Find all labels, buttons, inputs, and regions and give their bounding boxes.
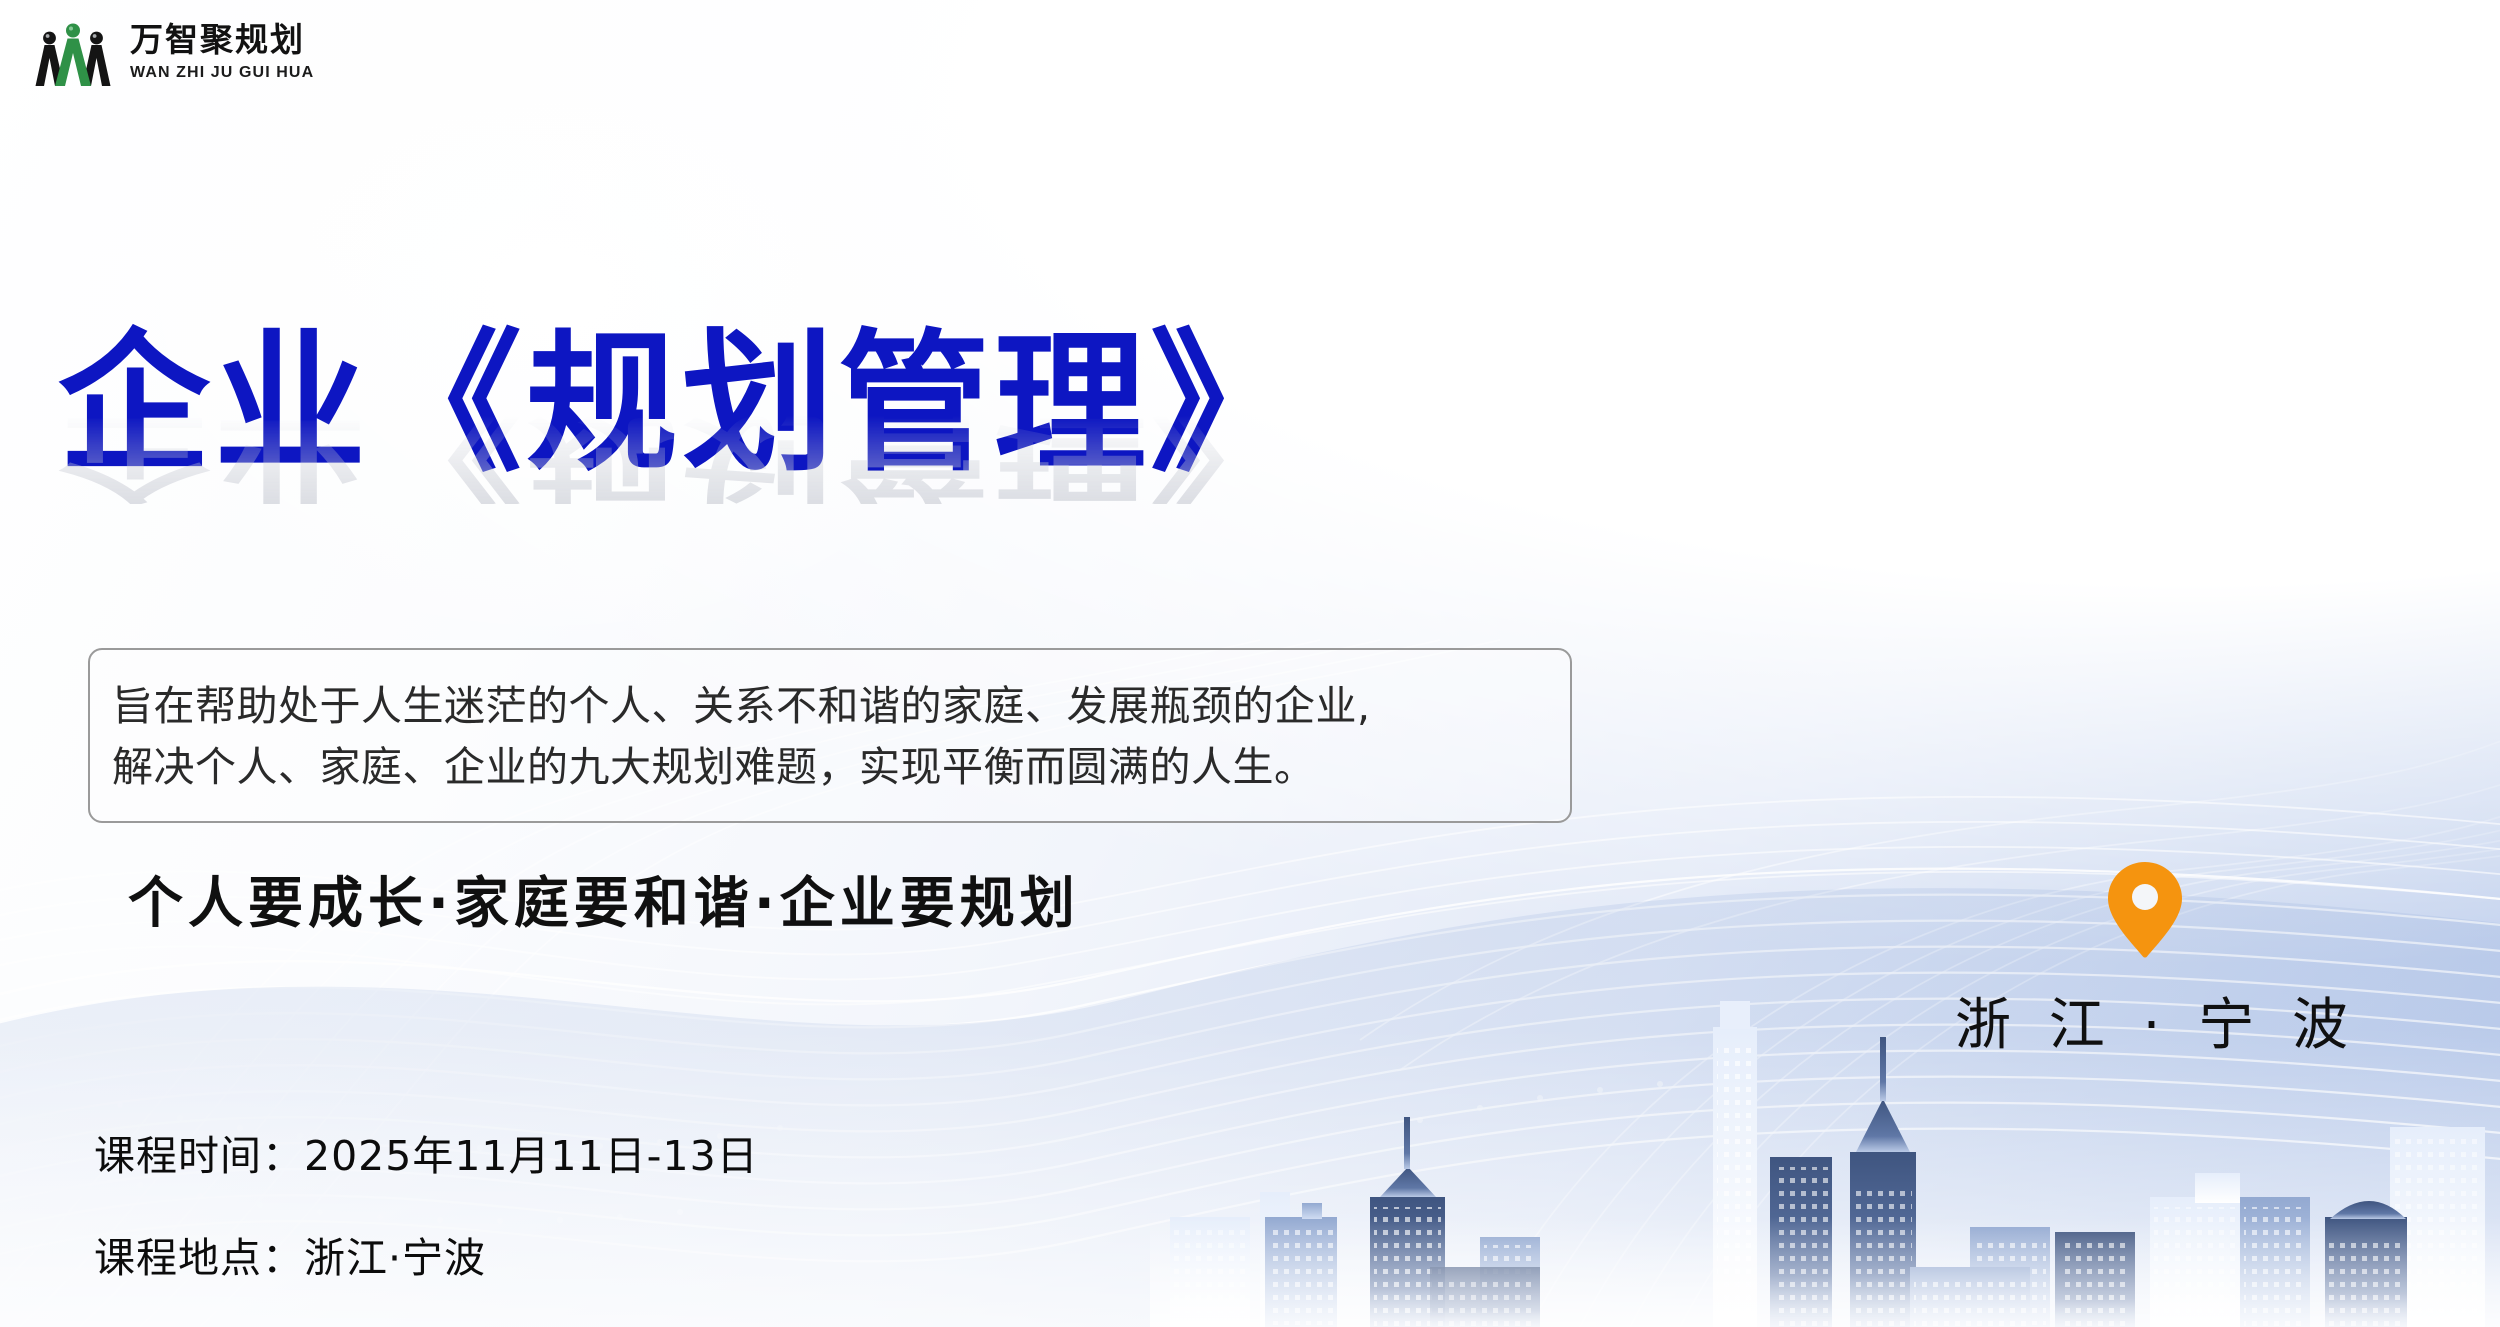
course-place: 课程地点：浙江·宁波 — [94, 1224, 759, 1284]
location-block: 浙 江 · 宁 波 — [1955, 862, 2335, 1061]
description-box: 旨在帮助处于人生迷茫的个人、关系不和谐的家庭、发展瓶颈的企业, 解决个人、家庭、… — [88, 648, 1572, 823]
hero-title-block: 企业《规划管理》 企业《规划管理》 — [58, 328, 1618, 628]
brand-logo[interactable]: 万智聚规划 WAN ZHI JU GUI HUA — [34, 18, 314, 88]
course-info: 课程时间：2025年11月11日-13日 课程地点：浙江·宁波 — [94, 1122, 759, 1284]
promo-banner: 万智聚规划 WAN ZHI JU GUI HUA 企业《规划管理》 企业《规划管… — [0, 0, 2500, 1327]
page-title-reflection: 企业《规划管理》 — [58, 410, 1306, 504]
three-people-group-icon — [34, 18, 112, 88]
course-time: 课程时间：2025年11月11日-13日 — [94, 1122, 759, 1182]
map-pin-icon — [2108, 862, 2182, 958]
location-name: 浙 江 · 宁 波 — [1955, 980, 2335, 1061]
description-line-2: 解决个人、家庭、企业的九大规划难题，实现平衡而圆满的人生。 — [112, 737, 1544, 798]
brand-name-cn: 万智聚规划 — [130, 25, 314, 58]
tagline: 个人要成长·家庭要和谐·企业要规划 — [128, 858, 1080, 938]
description-line-1: 旨在帮助处于人生迷茫的个人、关系不和谐的家庭、发展瓶颈的企业, — [112, 676, 1544, 737]
brand-name-pinyin: WAN ZHI JU GUI HUA — [130, 65, 314, 81]
